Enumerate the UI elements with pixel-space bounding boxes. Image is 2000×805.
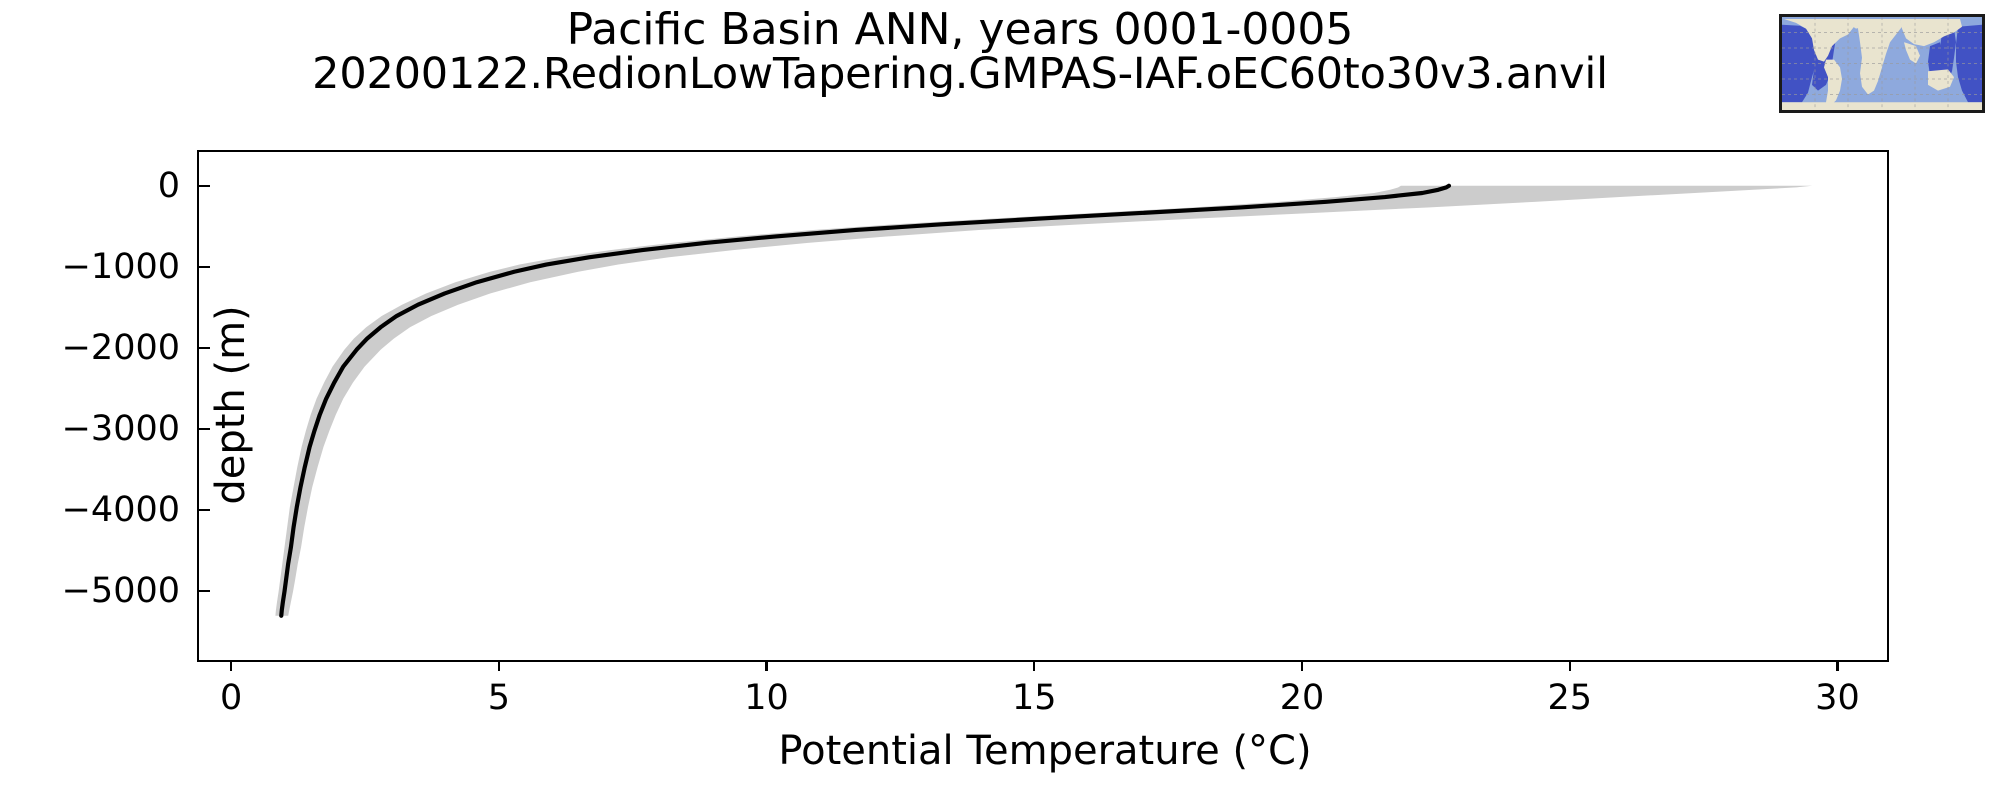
x-tick-label: 20	[1242, 677, 1362, 719]
y-tick-mark	[199, 509, 210, 511]
inset-map-graphic	[1782, 17, 1982, 110]
y-tick-mark	[199, 590, 210, 592]
plot-axes-frame: depth (m) 0−1000−2000−3000−4000−5000 051…	[197, 150, 1889, 662]
x-tick-label: 25	[1510, 677, 1630, 719]
x-tick-label: 15	[974, 677, 1094, 719]
y-tick-mark	[199, 185, 210, 187]
y-tick-label: −4000	[62, 489, 180, 531]
y-tick-label: −5000	[62, 570, 180, 612]
y-tick-mark	[199, 428, 210, 430]
x-tick-mark	[1836, 660, 1838, 671]
y-tick-label: −2000	[62, 327, 180, 369]
x-tick-label: 5	[439, 677, 559, 719]
uncertainty-band	[275, 186, 1812, 616]
title-line-1: Pacific Basin ANN, years 0001-0005	[0, 8, 1920, 53]
x-tick-label: 10	[707, 677, 827, 719]
x-tick-label: 0	[171, 677, 291, 719]
x-tick-mark	[1569, 660, 1571, 671]
figure-root: Pacific Basin ANN, years 0001-0005 20200…	[0, 0, 2000, 800]
x-tick-mark	[1033, 660, 1035, 671]
y-tick-mark	[199, 347, 210, 349]
profile-plot-canvas	[199, 152, 1887, 660]
x-tick-mark	[1301, 660, 1303, 671]
x-axis-label: Potential Temperature (°C)	[199, 728, 1891, 774]
pacific-basin-region-map	[1779, 14, 1985, 113]
y-tick-label: 0	[158, 165, 180, 207]
x-tick-mark	[765, 660, 767, 671]
mean-profile-line	[281, 186, 1449, 616]
y-tick-mark	[199, 266, 210, 268]
x-tick-mark	[230, 660, 232, 671]
y-tick-label: −1000	[62, 246, 180, 288]
title-line-2: 20200122.RedionLowTapering.GMPAS-IAF.oEC…	[0, 53, 1920, 97]
y-tick-label: −3000	[62, 408, 180, 450]
x-tick-label: 30	[1777, 677, 1897, 719]
figure-title: Pacific Basin ANN, years 0001-0005 20200…	[0, 8, 1920, 97]
x-tick-mark	[498, 660, 500, 671]
